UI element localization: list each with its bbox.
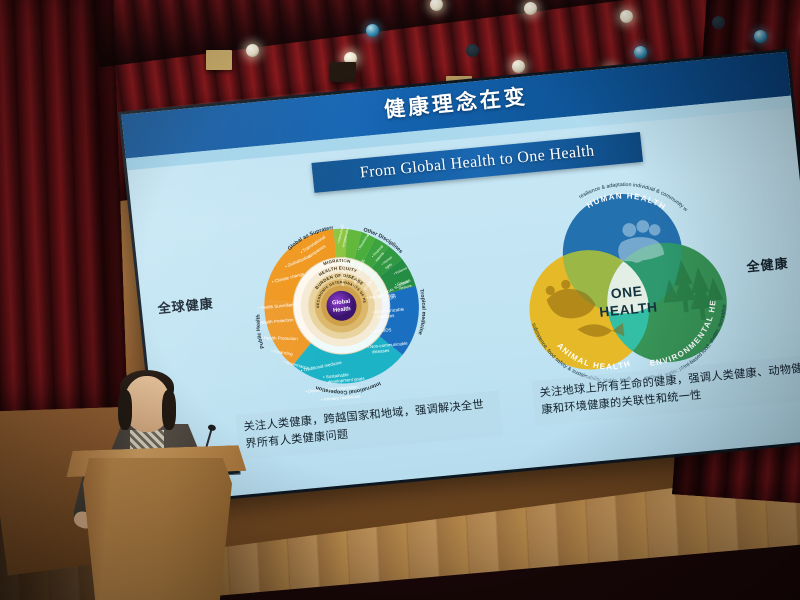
venn-center-label-line1: ONE xyxy=(610,284,643,302)
speaker-hair-right xyxy=(162,390,176,430)
auditorium-scene: 健康理念在变 From Global Health to One Health … xyxy=(0,0,800,600)
global-health-wheel-diagram: MIGRATION HEALTH EQUITY BURDEN OF DISEAS… xyxy=(224,189,459,422)
left-concept-label: 全球健康 xyxy=(157,293,215,317)
right-concept-label: 全健康 xyxy=(746,253,790,276)
one-health-venn-diagram: ONE HEALTH HUMAN HEALTH ANIMAL HEALTH EN… xyxy=(498,154,753,400)
speaker-hair-left xyxy=(118,390,132,430)
podium xyxy=(80,458,232,600)
svg-text:• Primary healthcare: • Primary healthcare xyxy=(321,393,361,402)
svg-text:• Health Promotion: • Health Promotion xyxy=(261,335,298,341)
